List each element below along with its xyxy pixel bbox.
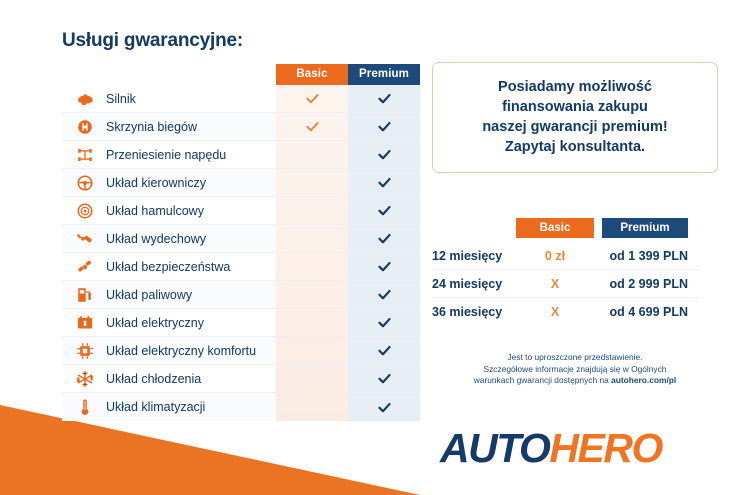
chip-icon [76, 342, 94, 360]
services-table-body: SilnikSkrzynia biegówPrzeniesienie napęd… [62, 85, 420, 421]
pricing-basic-value: X [516, 305, 594, 319]
basic-cell [276, 141, 348, 168]
service-label-cell: Układ elektryczny komfortu [62, 337, 276, 364]
service-name: Układ bezpieczeństwa [106, 260, 230, 274]
exhaust-icon [76, 230, 94, 248]
footnote-website-link[interactable]: autohero.com/pl [611, 375, 676, 385]
check-icon [377, 91, 392, 106]
service-name: Układ elektryczny [106, 316, 204, 330]
logo-text-hero: HERO [549, 425, 661, 471]
pricing-basic-value: X [516, 277, 594, 291]
service-label-cell: Przeniesienie napędu [62, 141, 276, 168]
premium-cell [348, 281, 420, 308]
basic-cell [276, 197, 348, 224]
service-label-cell: Układ elektryczny [62, 309, 276, 336]
pricing-premium-value: od 1 399 PLN [602, 249, 688, 263]
autohero-logo: AUTOHERO [440, 425, 662, 472]
service-name: Układ klimatyzacji [106, 400, 205, 414]
service-label-cell: Układ klimatyzacji [62, 393, 276, 421]
service-name: Układ elektryczny komfortu [106, 344, 256, 358]
service-label-cell: Silnik [62, 85, 276, 112]
premium-cell [348, 337, 420, 364]
premium-cell [348, 85, 420, 112]
services-table-header: Basic Premium [62, 64, 420, 85]
basic-cell [276, 113, 348, 140]
page-title: Usługi gwarancyjne: [62, 30, 420, 52]
premium-cell [348, 253, 420, 280]
pricing-premium-value: od 4 699 PLN [602, 305, 688, 319]
service-name: Przeniesienie napędu [106, 148, 226, 162]
service-label-cell: Układ bezpieczeństwa [62, 253, 276, 280]
table-row: Układ elektryczny [62, 309, 420, 337]
basic-cell [276, 225, 348, 252]
engine-icon [76, 90, 94, 108]
pricing-header-gap [594, 218, 602, 238]
service-name: Układ wydechowy [106, 232, 206, 246]
premium-cell [348, 113, 420, 140]
service-name: Układ hamulcowy [106, 204, 204, 218]
service-name: Silnik [106, 92, 136, 106]
service-label-cell: Układ hamulcowy [62, 197, 276, 224]
drivetrain-axle-icon [76, 146, 94, 164]
check-icon [377, 203, 392, 218]
fuel-pump-icon [76, 286, 94, 304]
table-row: Skrzynia biegów [62, 113, 420, 141]
service-label-cell: Układ wydechowy [62, 225, 276, 252]
footnote-line-1: Jest to uproszczone przedstawienie. [432, 352, 718, 364]
table-row: Układ chłodzenia [62, 365, 420, 393]
brake-disc-icon [76, 202, 94, 220]
pricing-header-basic: Basic [516, 218, 594, 238]
check-icon [377, 231, 392, 246]
thermometer-icon [76, 398, 94, 416]
premium-cell [348, 309, 420, 336]
service-label-cell: Układ chłodzenia [62, 365, 276, 392]
service-label-cell: Układ kierowniczy [62, 169, 276, 196]
service-label-cell: Układ paliwowy [62, 281, 276, 308]
table-row: Układ paliwowy [62, 281, 420, 309]
table-row: Układ kierowniczy [62, 169, 420, 197]
pricing-row: 24 miesięcyXod 2 999 PLN [432, 270, 700, 298]
check-icon [377, 119, 392, 134]
check-icon [377, 175, 392, 190]
pricing-table: Basic Premium 12 miesięcy0 złod 1 399 PL… [432, 218, 700, 326]
promo-line-2: finansowania zakupu [443, 97, 707, 117]
service-name: Układ kierowniczy [106, 176, 206, 190]
battery-icon [76, 314, 94, 332]
pricing-basic-value: 0 zł [516, 249, 594, 263]
pricing-table-body: 12 miesięcy0 złod 1 399 PLN24 miesięcyXo… [432, 242, 700, 326]
promo-line-3: naszej gwarancji premium! [443, 117, 707, 137]
table-row: Układ bezpieczeństwa [62, 253, 420, 281]
logo-text-auto: AUTO [440, 425, 549, 471]
premium-cell [348, 141, 420, 168]
premium-cell [348, 225, 420, 252]
check-icon [305, 91, 320, 106]
footnote-line-3: warunkach gwarancji dostępnych na autohe… [432, 375, 718, 387]
pricing-term: 24 miesięcy [432, 277, 516, 291]
check-icon [377, 315, 392, 330]
basic-cell [276, 85, 348, 112]
basic-cell [276, 169, 348, 196]
table-row: Układ elektryczny komfortu [62, 337, 420, 365]
pricing-term: 12 miesięcy [432, 249, 516, 263]
basic-cell [276, 281, 348, 308]
basic-cell [276, 309, 348, 336]
pricing-header-premium: Premium [602, 218, 688, 238]
promo-line-1: Posiadamy możliwość [443, 77, 707, 97]
service-name: Skrzynia biegów [106, 120, 197, 134]
seatbelt-safety-icon [76, 258, 94, 276]
basic-cell [276, 365, 348, 392]
legal-footnote: Jest to uproszczone przedstawienie. Szcz… [432, 352, 718, 387]
promo-line-4: Zapytaj konsultanta. [443, 137, 707, 157]
warranty-services-panel: Usługi gwarancyjne: Basic Premium Silnik… [62, 30, 420, 421]
steering-wheel-icon [76, 174, 94, 192]
check-icon [377, 343, 392, 358]
table-row: Układ hamulcowy [62, 197, 420, 225]
basic-cell [276, 337, 348, 364]
check-icon [377, 147, 392, 162]
footnote-line-2: Szczegółowe informacje znajdują się w Og… [432, 364, 718, 376]
column-header-premium: Premium [348, 64, 420, 85]
check-icon [377, 400, 392, 415]
check-icon [377, 287, 392, 302]
service-name: Układ paliwowy [106, 288, 192, 302]
pricing-row: 12 miesięcy0 złod 1 399 PLN [432, 242, 700, 270]
table-row: Silnik [62, 85, 420, 113]
snowflake-icon [76, 370, 94, 388]
check-icon [377, 371, 392, 386]
financing-promo-box: Posiadamy możliwość finansowania zakupu … [432, 62, 718, 173]
pricing-table-header: Basic Premium [432, 218, 700, 238]
pricing-term: 36 miesięcy [432, 305, 516, 319]
premium-cell [348, 197, 420, 224]
basic-cell [276, 393, 348, 421]
premium-cell [348, 393, 420, 421]
gearbox-icon [76, 118, 94, 136]
service-name: Układ chłodzenia [106, 372, 201, 386]
basic-cell [276, 253, 348, 280]
table-row: Przeniesienie napędu [62, 141, 420, 169]
premium-cell [348, 365, 420, 392]
services-comparison-table: Basic Premium SilnikSkrzynia biegówPrzen… [62, 64, 420, 421]
check-icon [377, 259, 392, 274]
service-label-cell: Skrzynia biegów [62, 113, 276, 140]
column-header-basic: Basic [276, 64, 348, 85]
pricing-premium-value: od 2 999 PLN [602, 277, 688, 291]
footnote-line-3-prefix: warunkach gwarancji dostępnych na [474, 375, 611, 385]
table-row: Układ wydechowy [62, 225, 420, 253]
table-row: Układ klimatyzacji [62, 393, 420, 421]
premium-cell [348, 169, 420, 196]
check-icon [305, 119, 320, 134]
financing-and-pricing-panel: Posiadamy możliwość finansowania zakupu … [432, 62, 718, 387]
pricing-row: 36 miesięcyXod 4 699 PLN [432, 298, 700, 326]
pricing-header-spacer [432, 218, 516, 238]
